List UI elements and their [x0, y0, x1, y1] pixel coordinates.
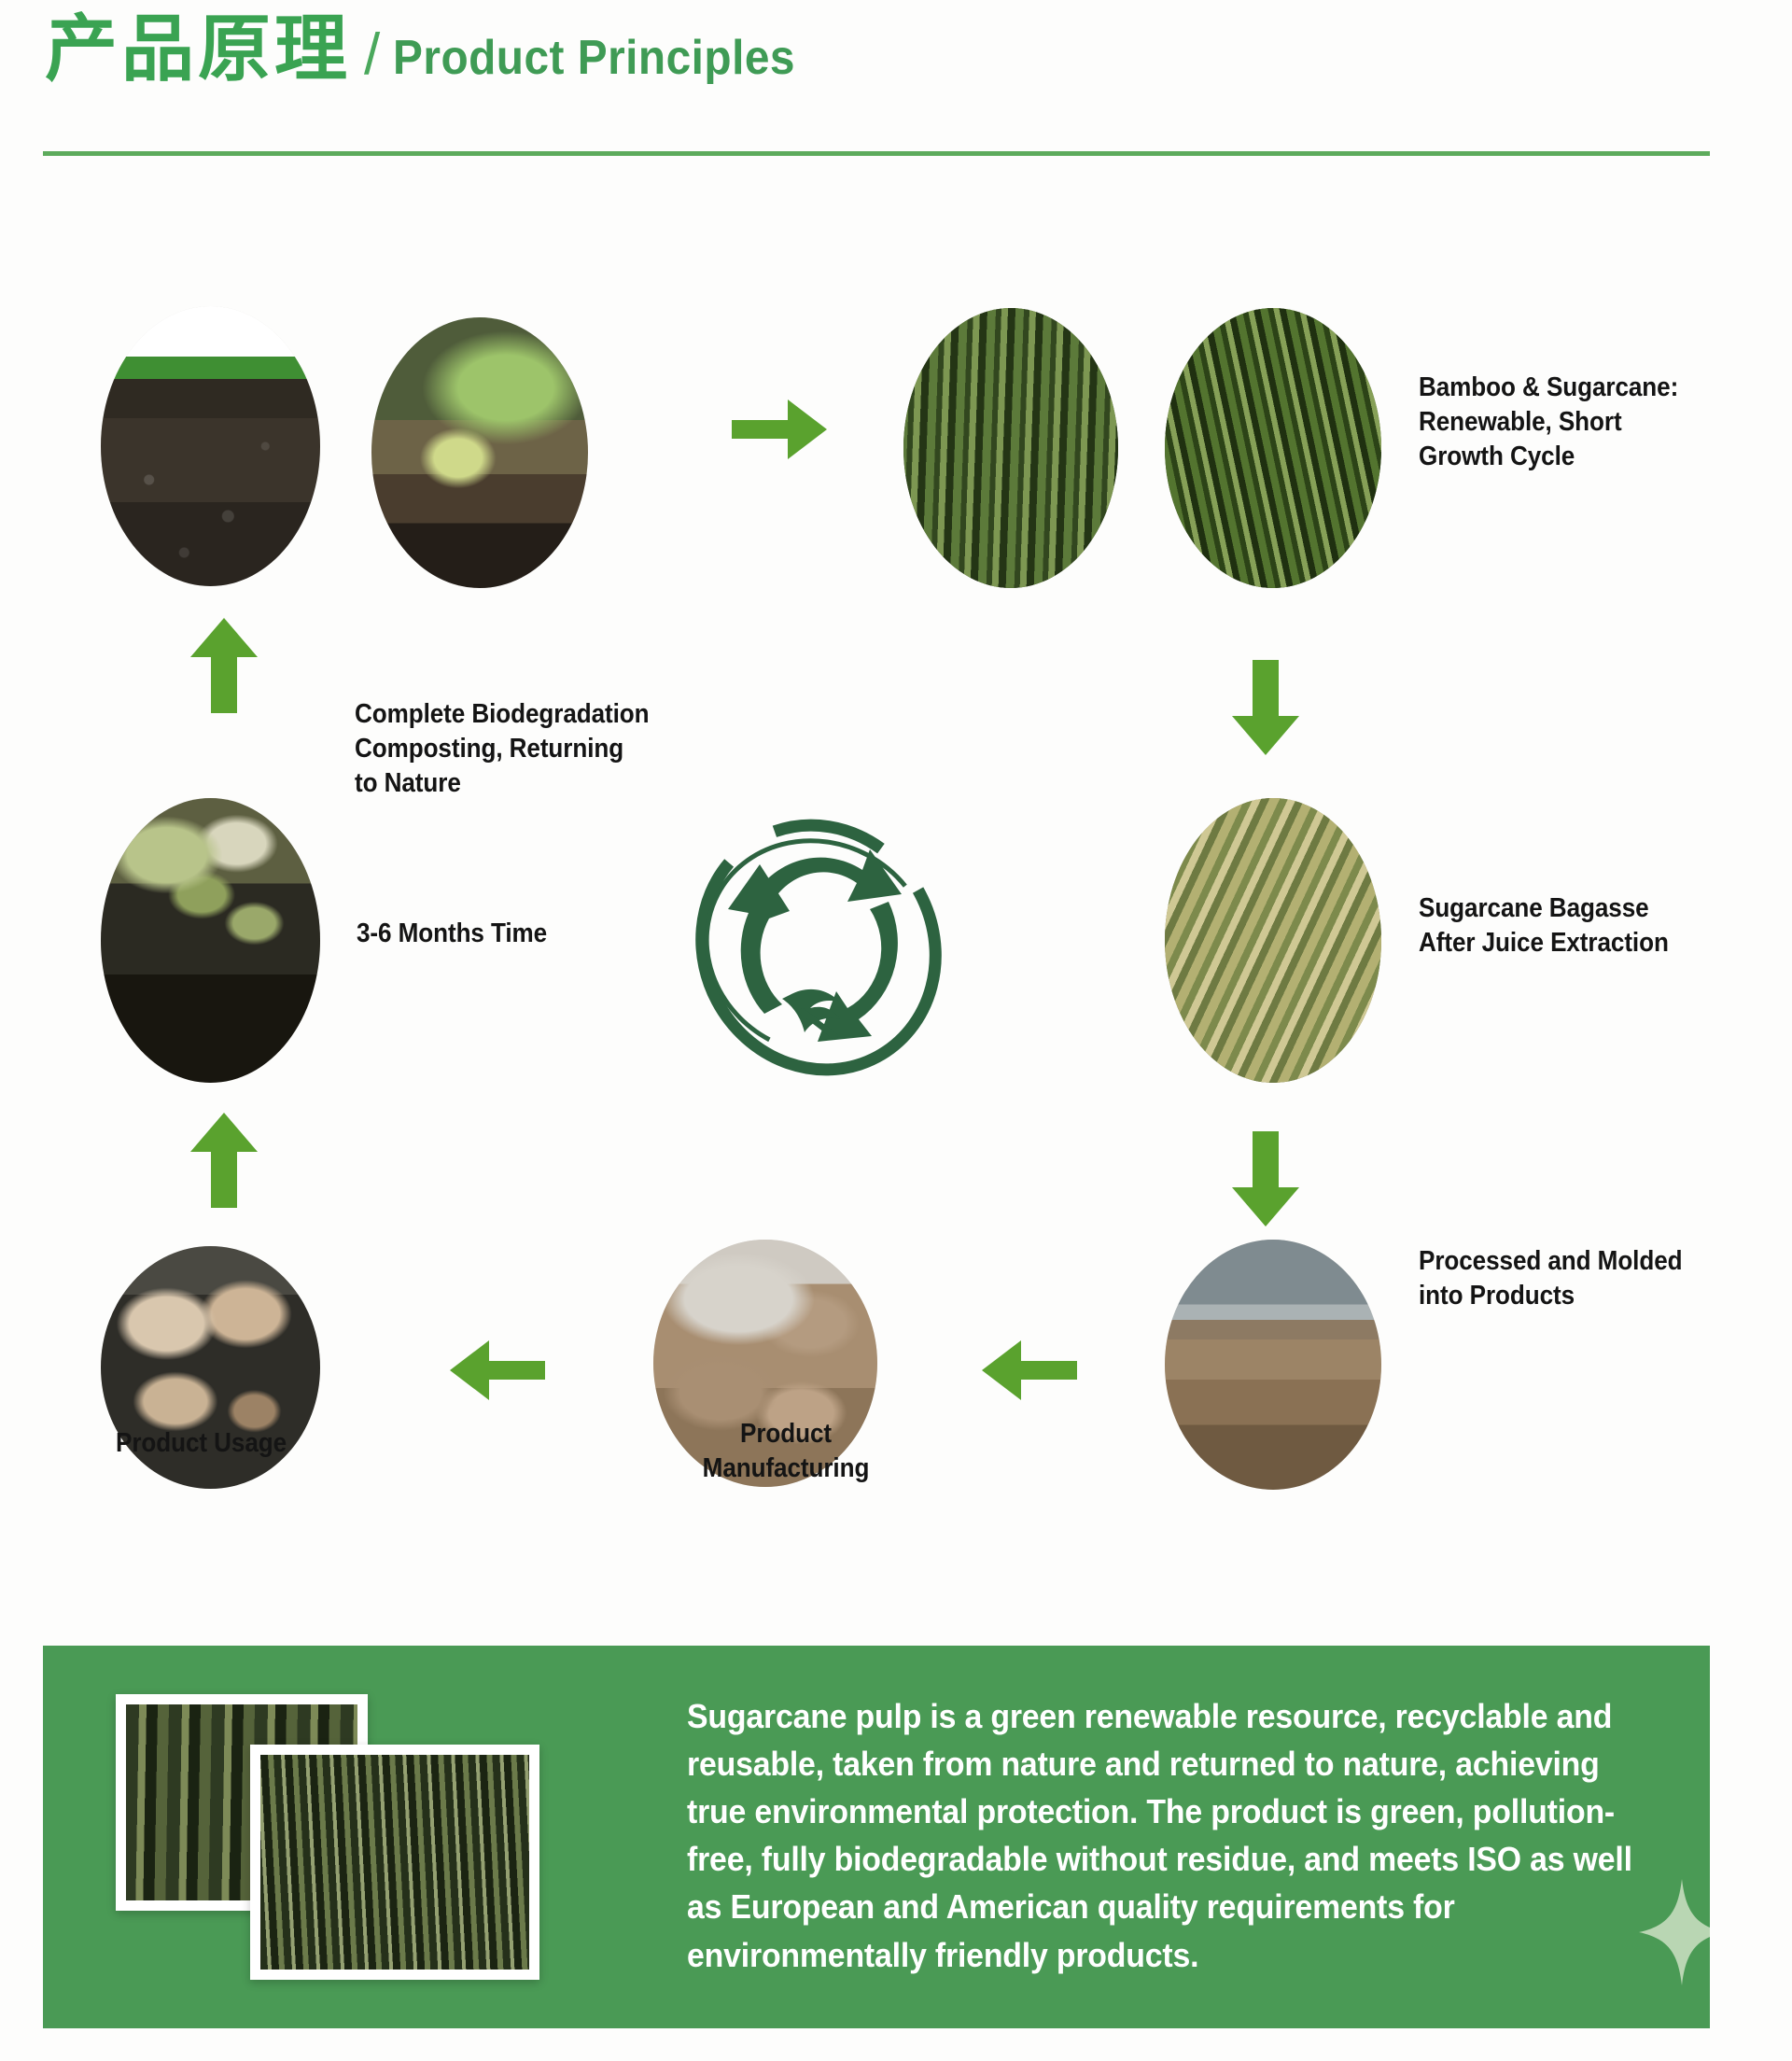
page-title-english: Product Principles — [393, 30, 795, 86]
soil-with-grass-photo — [101, 306, 320, 586]
arrow-right-icon — [730, 392, 831, 467]
label-bamboo-sugarcane: Bamboo & Sugarcane: Renewable, Short Gro… — [1419, 371, 1755, 474]
recycling-leaf-logo — [693, 812, 945, 1083]
label-months-time: 3-6 Months Time — [357, 917, 634, 951]
sugarcane-field-photo — [1165, 308, 1381, 588]
sparkle-icon — [1637, 1877, 1710, 1987]
summary-paragraph: Sugarcane pulp is a green renewable reso… — [687, 1692, 1634, 1979]
arrow-left-icon-bottom-right — [978, 1333, 1079, 1408]
bamboo-grove-photo — [903, 308, 1118, 588]
composting-waste-photo — [101, 798, 320, 1083]
summary-panel: Sugarcane pulp is a green renewable reso… — [43, 1646, 1710, 2028]
seedling-sprout-photo — [371, 317, 588, 588]
page-title-chinese: 产品原理 — [45, 13, 351, 86]
label-product-manufacturing: Product Manufacturing — [618, 1417, 954, 1486]
header-divider — [43, 151, 1710, 156]
lifecycle-diagram: Bamboo & Sugarcane: Renewable, Short Gro… — [0, 280, 1792, 1587]
page-header: 产品原理 / Product Principles — [43, 13, 1751, 162]
sugarcane-bagasse-photo — [1165, 798, 1381, 1083]
label-processed-molded: Processed and Molded into Products — [1419, 1244, 1771, 1313]
arrow-down-icon-right-top — [1230, 658, 1301, 757]
title-separator: / — [364, 21, 380, 88]
arrow-left-icon-bottom-left — [446, 1333, 547, 1408]
label-complete-biodegradation: Complete Biodegradation Composting, Retu… — [355, 697, 716, 801]
bamboo-forest-photo — [250, 1745, 539, 1980]
page-title: 产品原理 / Product Principles — [43, 13, 1751, 88]
arrow-up-icon-left-bottom — [189, 1111, 259, 1210]
molded-pulp-sheet-photo — [1165, 1240, 1381, 1490]
label-sugarcane-bagasse: Sugarcane Bagasse After Juice Extraction — [1419, 891, 1755, 960]
arrow-down-icon-right-bottom — [1230, 1129, 1301, 1228]
arrow-up-icon-left-top — [189, 616, 259, 715]
label-product-usage: Product Usage — [116, 1426, 401, 1461]
